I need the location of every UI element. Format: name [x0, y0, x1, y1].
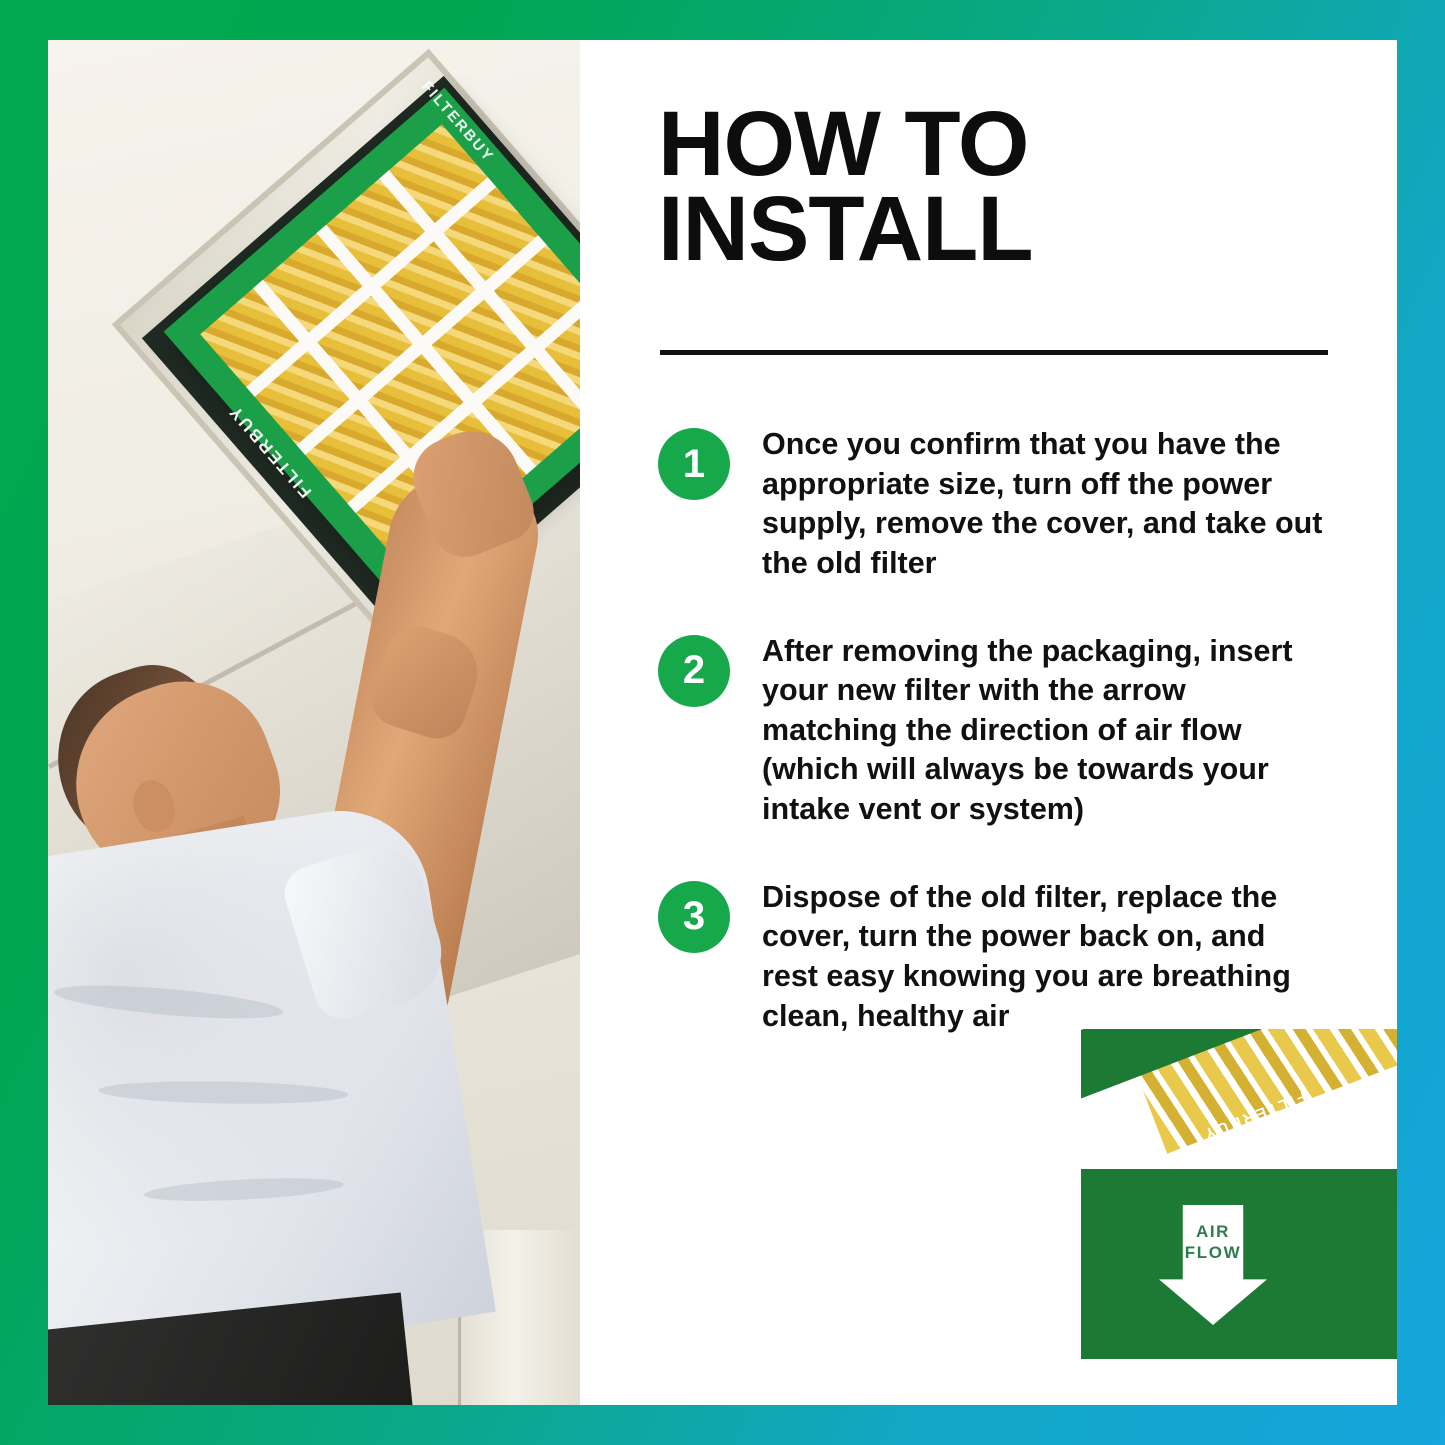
step-text-1: Once you confirm that you have the appro… [762, 425, 1328, 584]
shirt-fold [143, 1174, 344, 1204]
product-filter-image: FILTERBUY AIR FLOW [1081, 1029, 1397, 1359]
install-photo: FILTERBUY FILTERBUY [48, 40, 580, 1405]
step-item-3: 3 Dispose of the old filter, replace the… [658, 878, 1358, 1037]
steps-list: 1 Once you confirm that you have the app… [658, 425, 1358, 1084]
step-text-2: After removing the packaging, insert you… [762, 632, 1328, 830]
step-item-1: 1 Once you confirm that you have the app… [658, 425, 1358, 584]
step-item-2: 2 After removing the packaging, insert y… [658, 632, 1358, 830]
title-line-2: INSTALL [658, 178, 1033, 280]
air-flow-line-1: AIR [1196, 1222, 1230, 1241]
content-card: FILTERBUY FILTERBUY HOW TO INSTALL 1 Onc… [48, 40, 1397, 1405]
step-number-badge-2: 2 [658, 635, 730, 707]
page-title: HOW TO INSTALL [658, 102, 1358, 271]
step-number-badge-1: 1 [658, 428, 730, 500]
shirt-fold [98, 1079, 348, 1105]
air-flow-label: AIR FLOW [1159, 1221, 1267, 1264]
step-number-badge-3: 3 [658, 881, 730, 953]
instructions-panel: HOW TO INSTALL 1 Once you confirm that y… [658, 40, 1397, 1405]
title-divider [660, 350, 1328, 355]
step-text-3: Dispose of the old filter, replace the c… [762, 878, 1328, 1037]
air-flow-indicator: AIR FLOW [1159, 1205, 1267, 1325]
air-flow-line-2: FLOW [1185, 1243, 1241, 1262]
shirt-fold [53, 979, 284, 1025]
